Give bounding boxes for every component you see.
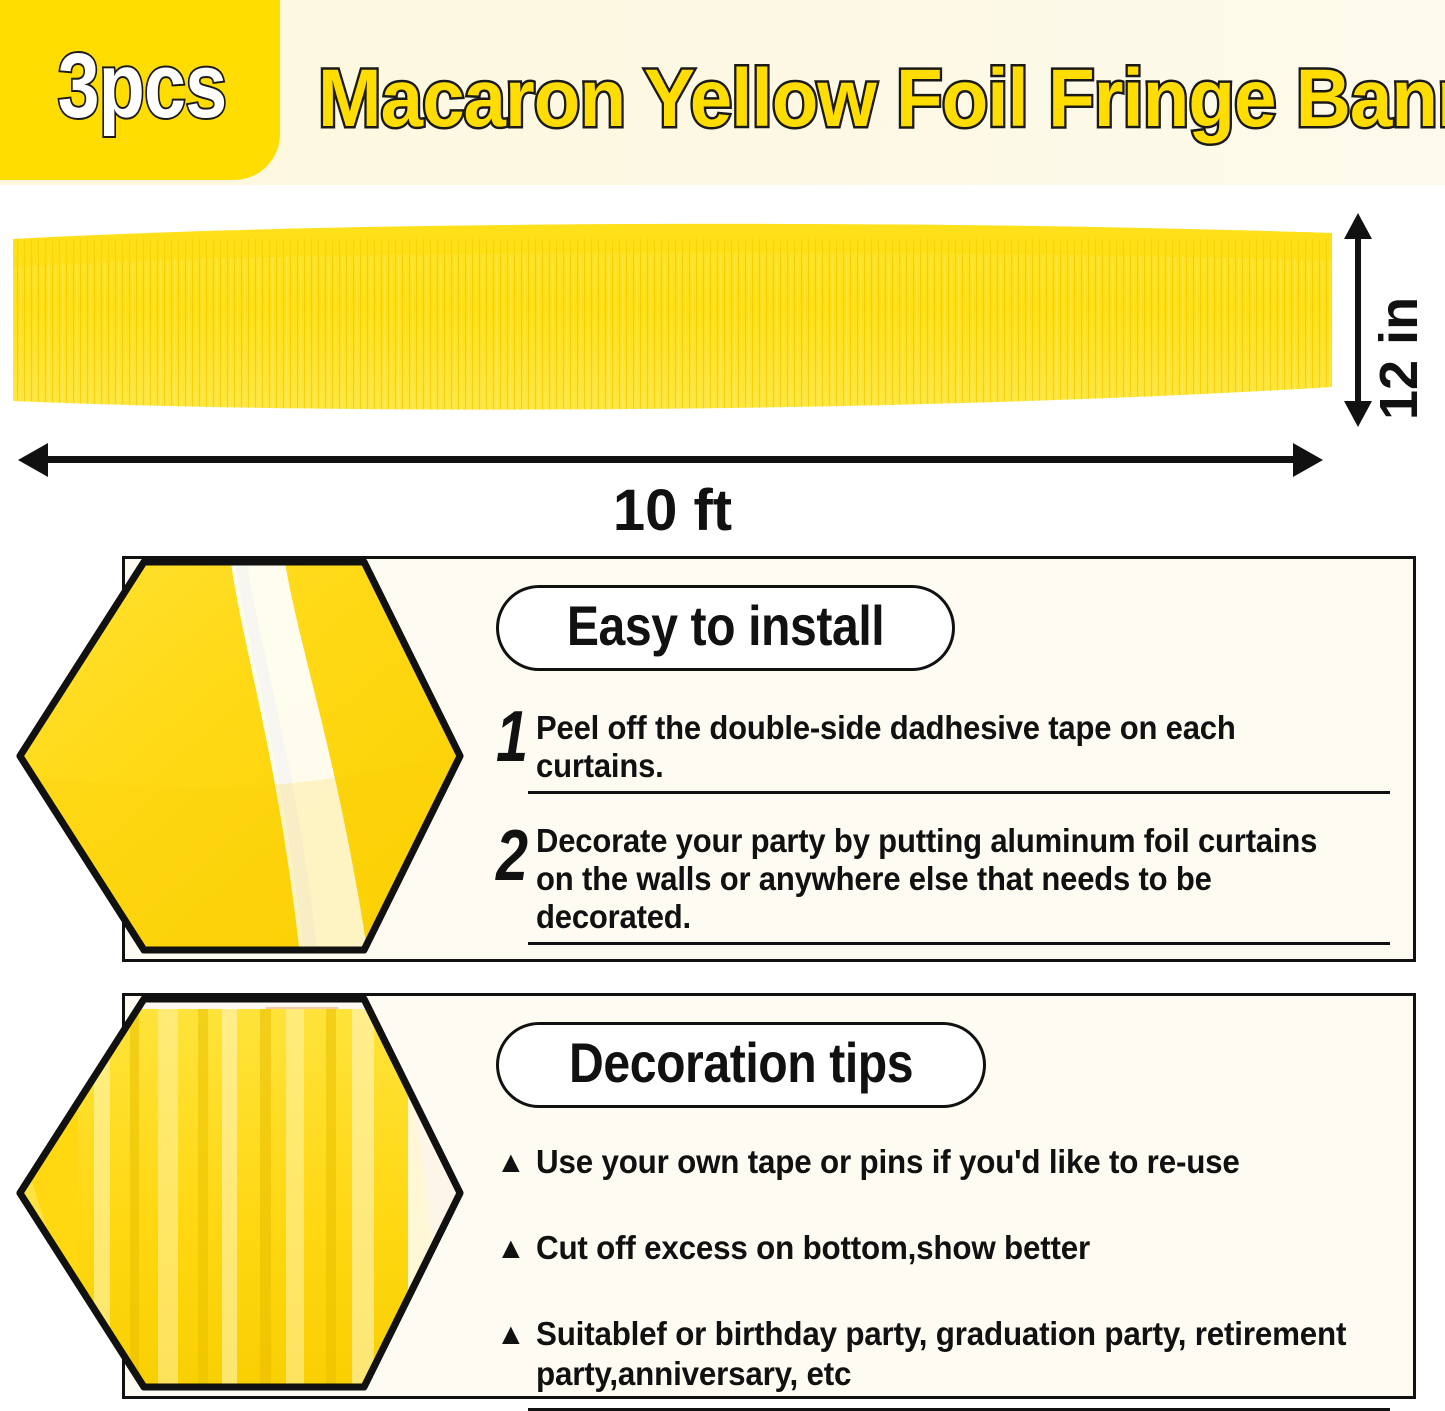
step-text: Peel off the double-side dadhesive tape … (536, 701, 1344, 785)
triangle-bullet-icon: ▲ (496, 1228, 536, 1267)
install-step: 2 Decorate your party by putting aluminu… (496, 820, 1396, 936)
step-text: Decorate your party by putting aluminum … (536, 820, 1344, 936)
tip-item: ▲ Cut off excess on bottom,show better (496, 1228, 1396, 1268)
step-number: 2 (496, 824, 528, 888)
product-dimension-block: 12 in 10 ft (0, 185, 1445, 540)
triangle-bullet-icon: ▲ (496, 1142, 536, 1181)
height-dimension-label: 12 in (1368, 297, 1430, 420)
install-steps: 1 Peel off the double-side dadhesive tap… (496, 701, 1396, 945)
arrow-shaft (34, 456, 1307, 463)
tips-content: Decoration tips ▲ Use your own tape or p… (496, 1022, 1396, 1411)
tips-heading-label: Decoration tips (569, 1033, 913, 1093)
install-content: Easy to install 1 Peel off the double-si… (496, 585, 1396, 945)
arrow-shaft (1355, 227, 1361, 413)
tip-item: ▲ Use your own tape or pins if you'd lik… (496, 1142, 1396, 1182)
width-dimension-label: 10 ft (0, 477, 1345, 544)
tips-hexagon-image (8, 993, 472, 1393)
tips-list: ▲ Use your own tape or pins if you'd lik… (496, 1142, 1396, 1411)
step-divider (528, 942, 1390, 945)
step-number: 1 (496, 705, 528, 769)
install-hexagon-image (8, 556, 472, 956)
infographic-root: 3pcs Macaron Yellow Foil Fringe Banner (0, 0, 1445, 1405)
quantity-badge: 3pcs (0, 0, 280, 180)
fringe-banner-svg (10, 217, 1335, 422)
width-dimension-arrow (18, 443, 1323, 477)
step-divider (528, 791, 1390, 794)
quantity-badge-label: 3pcs (44, 36, 241, 136)
triangle-bullet-icon: ▲ (496, 1314, 536, 1353)
page-title: Macaron Yellow Foil Fringe Banner (318, 56, 1350, 142)
tip-item: ▲ Suitablef or birthday party, graduatio… (496, 1314, 1396, 1394)
install-heading-pill: Easy to install (496, 585, 955, 671)
header-bar: 3pcs Macaron Yellow Foil Fringe Banner (0, 0, 1445, 185)
arrow-right-icon (1293, 443, 1323, 477)
tip-text: Use your own tape or pins if you'd like … (536, 1142, 1353, 1182)
install-heading-label: Easy to install (567, 596, 884, 656)
tip-text: Cut off excess on bottom,show better (536, 1228, 1353, 1268)
tips-heading-pill: Decoration tips (496, 1022, 986, 1108)
tip-text: Suitablef or birthday party, graduation … (536, 1314, 1353, 1394)
fringe-banner-image (10, 217, 1335, 422)
install-step: 1 Peel off the double-side dadhesive tap… (496, 701, 1396, 785)
